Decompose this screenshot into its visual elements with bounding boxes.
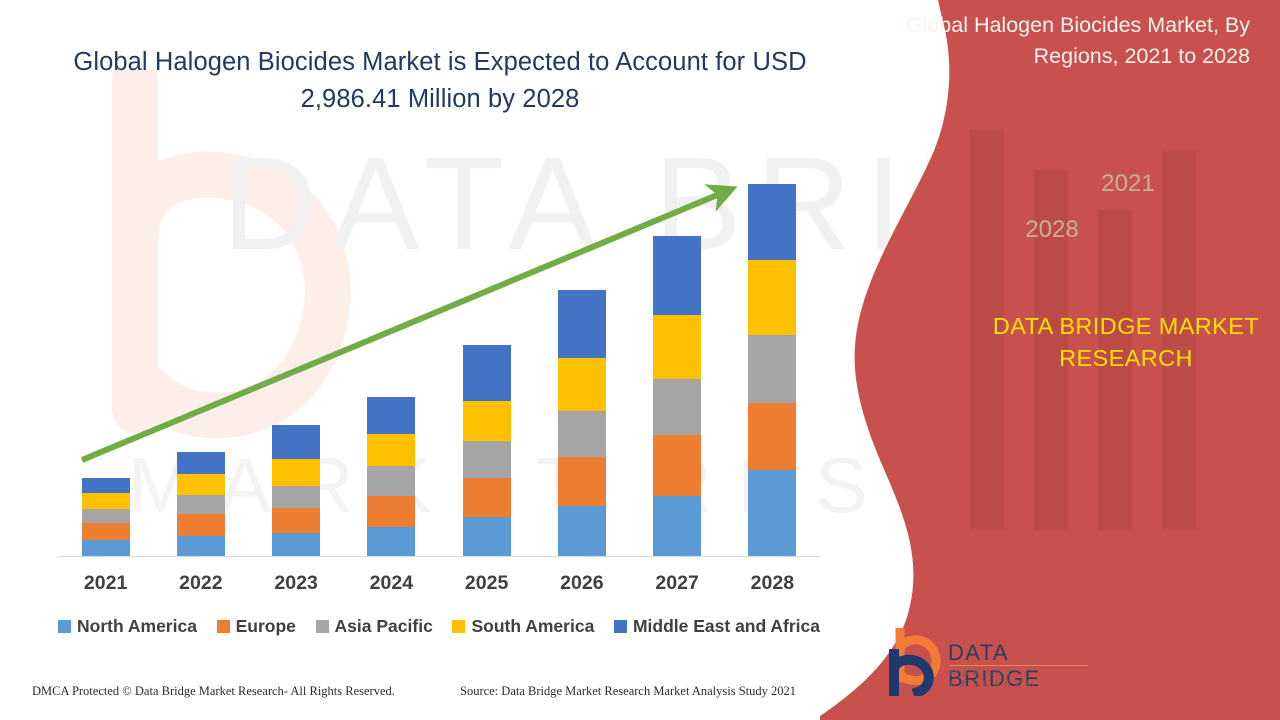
bar-segment [272, 459, 320, 486]
bar-group-2022[interactable] [177, 452, 225, 556]
bar-segment [367, 466, 415, 496]
bar-segment [367, 434, 415, 466]
bar-segment [748, 403, 796, 470]
bar-segment [463, 478, 511, 517]
bar-segment [177, 474, 225, 495]
bar-group-2028[interactable] [748, 184, 796, 556]
bar-segment [177, 514, 225, 536]
legend-item-south-america[interactable]: South America [452, 616, 594, 637]
legend-label: Europe [236, 616, 296, 637]
legend-swatch-icon [614, 620, 627, 633]
bar-segment [558, 290, 606, 357]
legend-label: North America [77, 616, 197, 637]
bar-segment [748, 260, 796, 335]
bar-segment [558, 457, 606, 506]
x-axis-label-2023: 2023 [251, 572, 341, 595]
x-axis-label-2027: 2027 [632, 572, 722, 595]
hexagon-year-2028: 2028 [1006, 216, 1098, 244]
bar-segment [177, 536, 225, 556]
footer-source: Source: Data Bridge Market Research Mark… [460, 684, 796, 699]
x-axis-label-2025: 2025 [442, 572, 532, 595]
chart-legend: North AmericaEuropeAsia PacificSouth Ame… [58, 616, 820, 637]
x-axis-label-2022: 2022 [156, 572, 246, 595]
panel-title: Global Halogen Biocides Market, By Regio… [880, 10, 1250, 72]
x-axis-label-2026: 2026 [537, 572, 627, 595]
legend-item-middle-east-and-africa[interactable]: Middle East and Africa [614, 616, 820, 637]
bar-segment [748, 470, 796, 556]
bar-segment [367, 496, 415, 527]
legend-swatch-icon [217, 620, 230, 633]
panel-brand-name: DATA BRIDGE MARKET RESEARCH [986, 310, 1266, 375]
bar-segment [272, 425, 320, 459]
legend-item-north-america[interactable]: North America [58, 616, 197, 637]
bar-segment [463, 517, 511, 556]
watermark-text-line2: MARKET RESEARCH [128, 440, 1280, 531]
bar-segment [367, 397, 415, 434]
bar-segment [748, 335, 796, 402]
bar-segment [558, 411, 606, 457]
bar-group-2024[interactable] [367, 397, 415, 556]
legend-swatch-icon [316, 620, 329, 633]
bar-group-2027[interactable] [653, 236, 701, 556]
bar-segment [367, 527, 415, 556]
bar-segment [82, 478, 130, 493]
bar-segment [653, 236, 701, 315]
watermark-letter-b-icon [95, 70, 425, 490]
bar-series-container [58, 150, 820, 556]
legend-item-asia-pacific[interactable]: Asia Pacific [316, 616, 433, 637]
bar-segment [82, 523, 130, 540]
bar-segment [558, 506, 606, 556]
x-axis-labels: 20212022202320242025202620272028 [58, 572, 820, 598]
bar-segment [463, 345, 511, 400]
bar-segment [558, 358, 606, 411]
legend-item-europe[interactable]: Europe [217, 616, 296, 637]
bar-segment [748, 184, 796, 260]
bar-group-2025[interactable] [463, 345, 511, 556]
infographic-canvas: DATA BRIDGE MARKET RESEARCH Global Halog… [0, 0, 1280, 720]
bar-group-2023[interactable] [272, 425, 320, 556]
bar-segment [463, 401, 511, 441]
x-axis-label-2024: 2024 [346, 572, 436, 595]
bar-group-2021[interactable] [82, 478, 130, 556]
x-axis-label-2028: 2028 [727, 572, 817, 595]
legend-swatch-icon [452, 620, 465, 633]
bar-segment [653, 315, 701, 378]
bar-segment [272, 533, 320, 556]
bar-segment [177, 452, 225, 474]
bar-segment [82, 540, 130, 556]
bar-segment [177, 495, 225, 514]
bar-segment [653, 379, 701, 435]
bar-segment [653, 496, 701, 556]
bar-segment [653, 435, 701, 496]
legend-label: Asia Pacific [335, 616, 433, 637]
bar-segment [272, 508, 320, 533]
hexagon-year-2021: 2021 [1082, 170, 1174, 198]
bar-segment [82, 493, 130, 509]
bar-segment [82, 509, 130, 523]
logo-subtitle: MARKET RESEARCH [950, 668, 1108, 690]
bar-segment [463, 441, 511, 478]
x-axis-label-2021: 2021 [61, 572, 151, 595]
x-axis-line [58, 556, 820, 557]
legend-swatch-icon [58, 620, 71, 633]
bar-group-2026[interactable] [558, 290, 606, 556]
legend-label: South America [471, 616, 594, 637]
footer-copyright: DMCA Protected © Data Bridge Market Rese… [32, 684, 395, 699]
bar-segment [272, 486, 320, 508]
data-bridge-logo: DATA BRIDGE MARKET RESEARCH [888, 634, 1108, 696]
logo-mark-icon [888, 628, 954, 696]
watermark-text-line1: DATA BRIDGE [222, 128, 1244, 279]
legend-label: Middle East and Africa [633, 616, 820, 637]
page-title: Global Halogen Biocides Market is Expect… [60, 44, 820, 118]
